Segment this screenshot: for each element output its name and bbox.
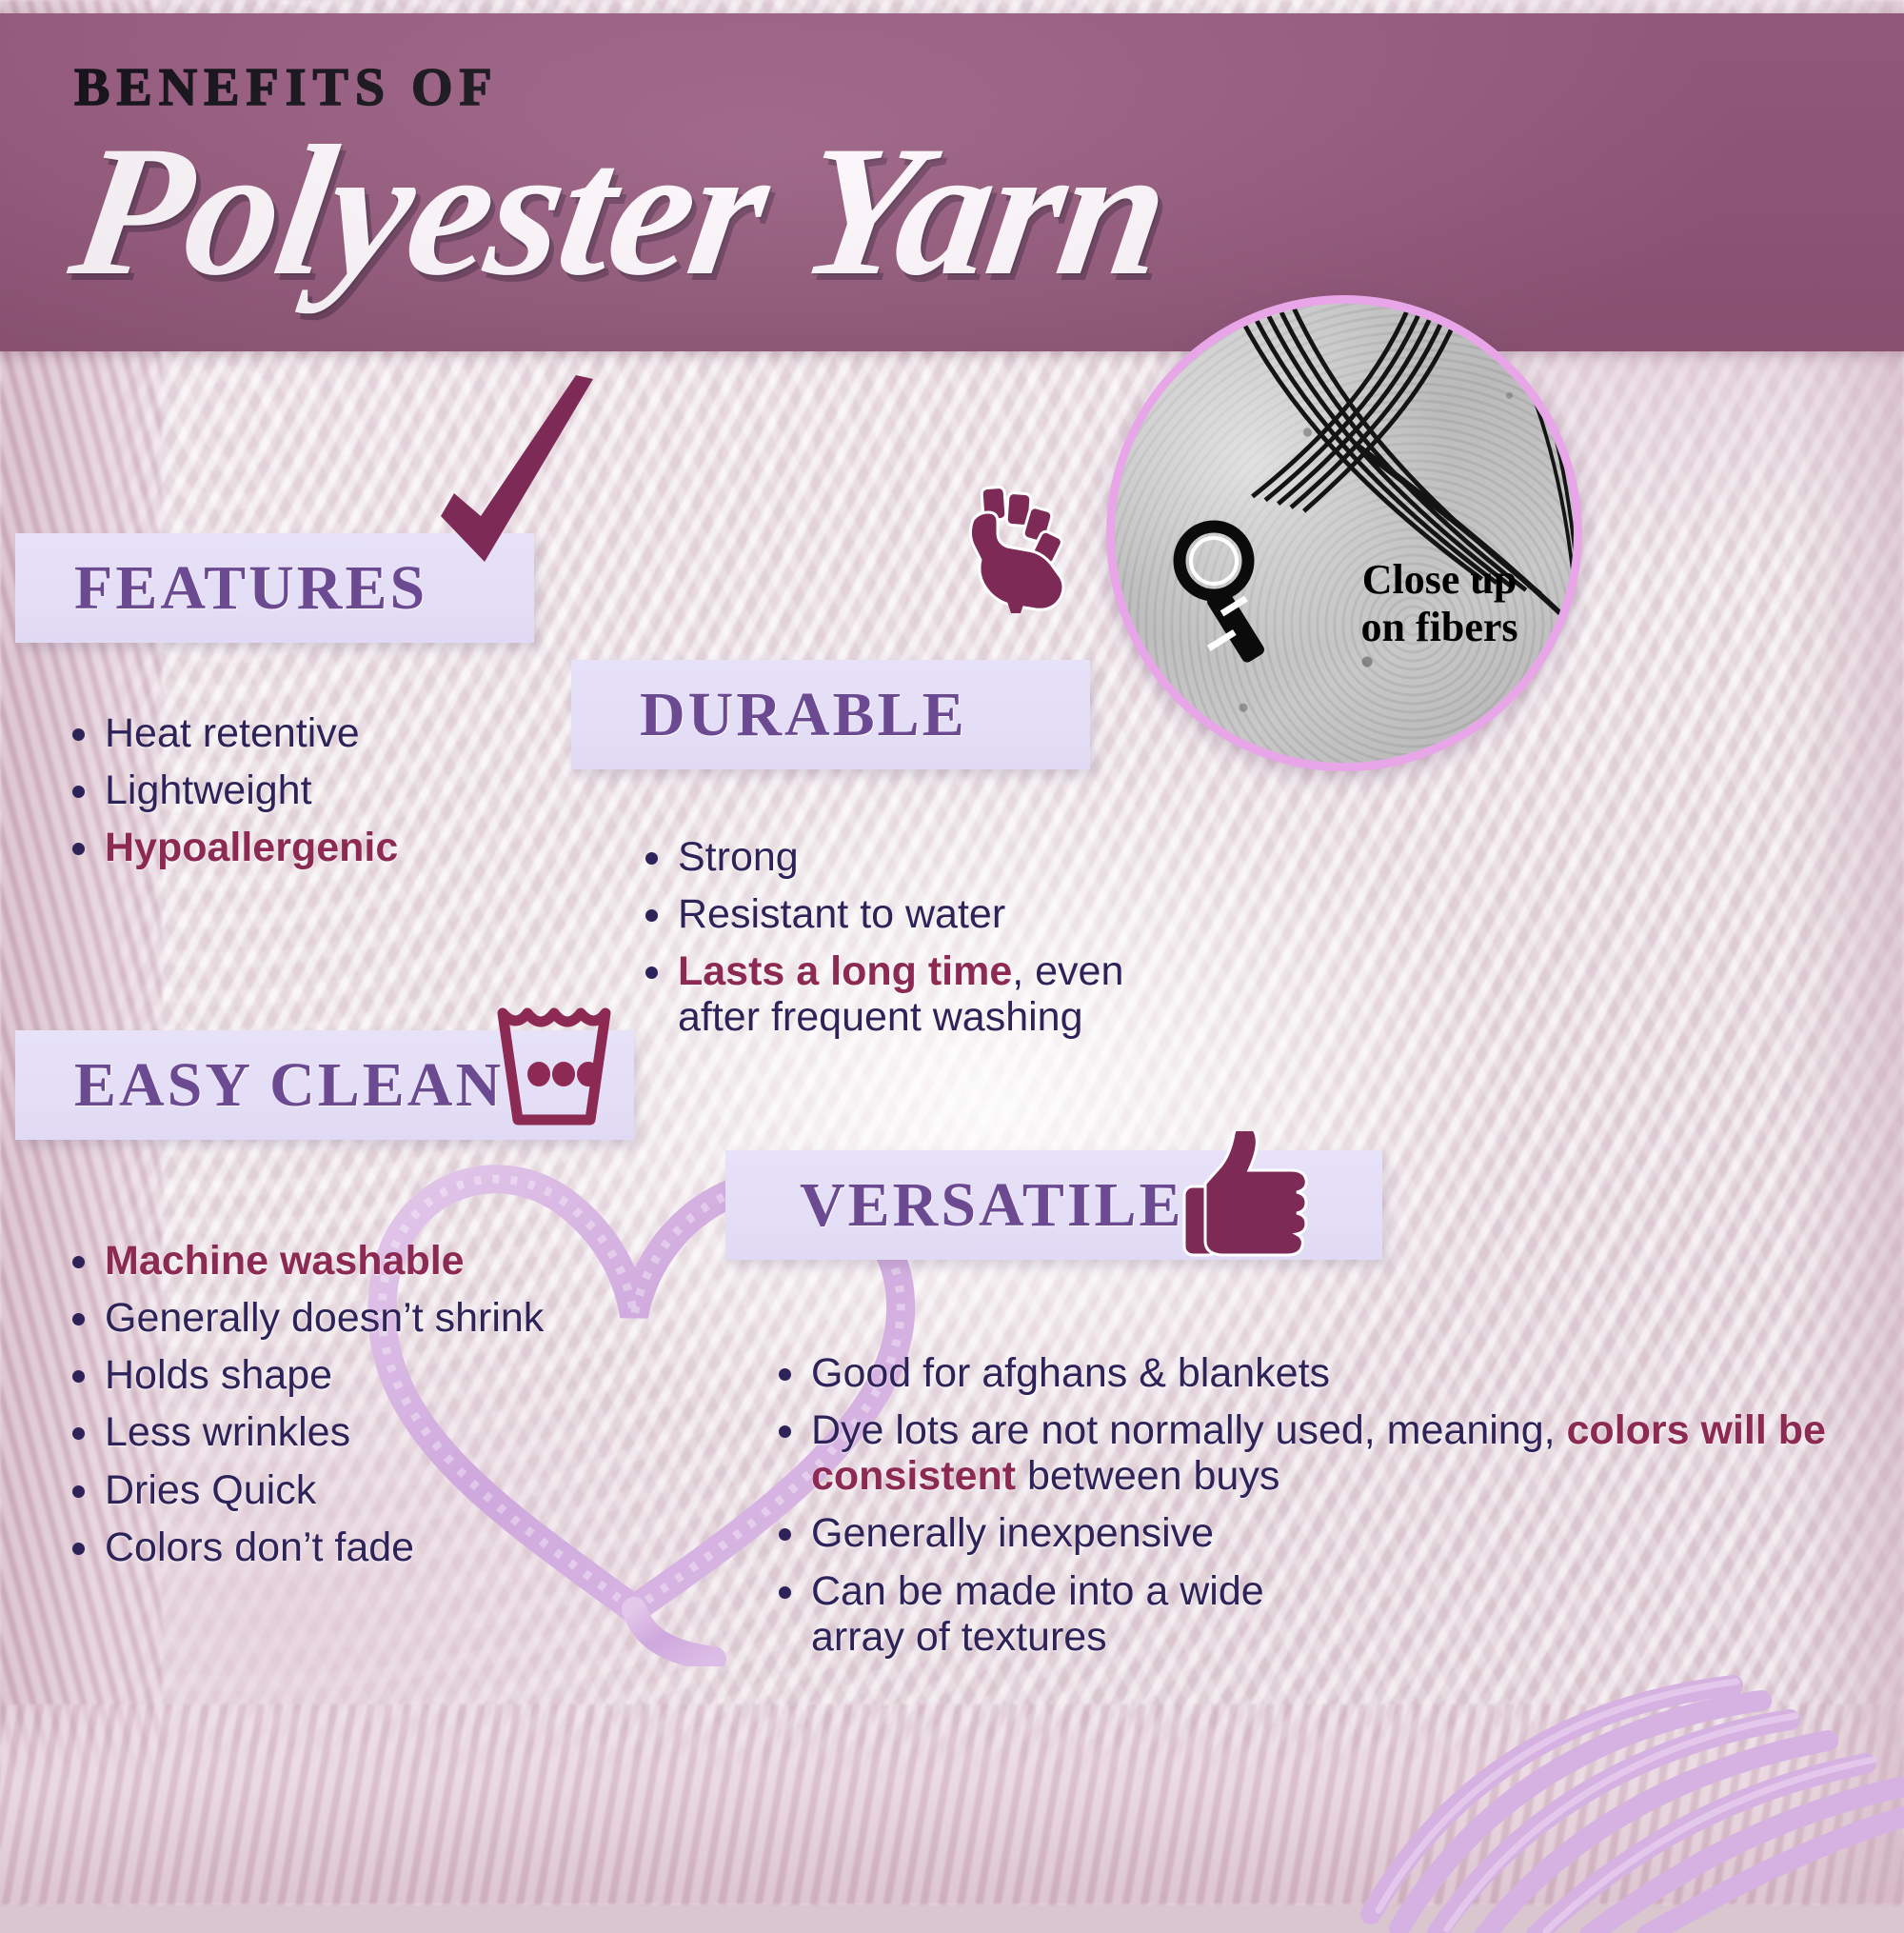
list-item: Strong (640, 834, 1135, 880)
list-item: Good for afghans & blankets (773, 1350, 1887, 1396)
durable-heading-bar: DURABLE (571, 660, 1090, 769)
list-item: Dries Quick (67, 1467, 600, 1513)
list-item: Colors don’t fade (67, 1524, 600, 1570)
durable-heading: DURABLE (640, 679, 967, 751)
easy-clean-list: Machine washable Generally doesn’t shrin… (67, 1238, 600, 1582)
fiber-closeup-circle: Close up on fibers (1106, 295, 1582, 771)
page-title: Polyester Yarn (61, 112, 1180, 310)
list-item: Heat retentive (67, 710, 543, 756)
easy-clean-heading: EASY CLEAN (74, 1049, 504, 1122)
versatile-list: Good for afghans & blankets Dye lots are… (773, 1350, 1887, 1671)
list-item: Machine washable (67, 1238, 600, 1284)
features-heading: FEATURES (74, 552, 427, 625)
list-item: Less wrinkles (67, 1409, 600, 1455)
features-list: Heat retentive Lightweight Hypoallergeni… (67, 710, 543, 882)
list-item: Holds shape (67, 1352, 600, 1398)
versatile-item-pre: Dye lots are not normally used, meaning, (811, 1407, 1567, 1453)
magnifying-glass-icon (1164, 515, 1307, 677)
wash-basin-icon (495, 992, 621, 1126)
raised-fist-icon (960, 484, 1072, 617)
durable-list: Strong Resistant to water Lasts a long t… (640, 834, 1135, 1052)
list-item: Hypoallergenic (67, 825, 543, 870)
versatile-heading: VERSATILE (800, 1169, 1184, 1242)
versatile-item-post: between buys (1016, 1453, 1279, 1499)
list-item: Dye lots are not normally used, meaning,… (773, 1407, 1887, 1499)
list-item: Resistant to water (640, 891, 1135, 937)
closeup-caption-line2: on fibers (1330, 604, 1549, 650)
closeup-caption: Close up on fibers (1330, 556, 1549, 650)
durable-emphasis: Lasts a long time (678, 948, 1012, 994)
thumbs-up-icon (1180, 1131, 1314, 1260)
list-item: Generally inexpensive (773, 1510, 1887, 1556)
list-item: Generally doesn’t shrink (67, 1295, 600, 1341)
list-item: Lasts a long time, even after frequent w… (640, 948, 1135, 1040)
list-item: Can be made into a wide array of texture… (773, 1568, 1363, 1660)
closeup-caption-line1: Close up (1330, 556, 1549, 603)
header-banner: BENEFITS OF Polyester Yarn (0, 13, 1904, 351)
list-item: Lightweight (67, 767, 543, 813)
checkmark-icon (433, 373, 600, 597)
